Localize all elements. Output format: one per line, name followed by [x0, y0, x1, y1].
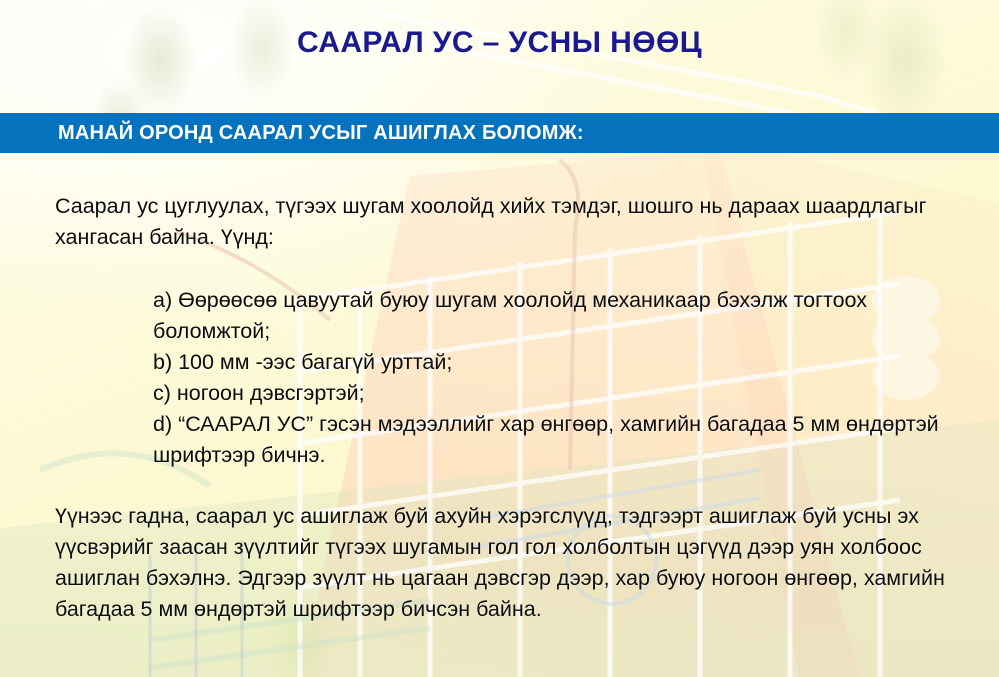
page-title: СААРАЛ УС – УСНЫ НӨӨЦ [0, 26, 999, 60]
section-banner-label: МАНАЙ ОРОНД СААРАЛ УСЫГ АШИГЛАХ БОЛОМЖ: [58, 122, 584, 145]
spacer-above-list [0, 253, 999, 285]
list-item: a) Өөрөөсөө цавуутай буюу шугам хоолойд … [153, 285, 959, 347]
intro-paragraph: Саарал ус цуглуулах, түгээх шугам хоолой… [0, 191, 999, 253]
slide-body: Саарал ус цуглуулах, түгээх шугам хоолой… [0, 191, 999, 625]
closing-paragraph: Үүнээс гадна, саарал ус ашиглаж буй ахуй… [0, 501, 997, 625]
spacer-below-list [0, 471, 999, 501]
requirements-list: a) Өөрөөсөө цавуутай буюу шугам хоолойд … [0, 285, 999, 471]
list-item: d) “СААРАЛ УС” гэсэн мэдээллийг хар өнгө… [153, 409, 959, 471]
list-item: b) 100 мм -ээс багагүй урттай; [153, 347, 959, 378]
presentation-slide: СААРАЛ УС – УСНЫ НӨӨЦ МАНАЙ ОРОНД СААРАЛ… [0, 0, 999, 677]
section-banner: МАНАЙ ОРОНД СААРАЛ УСЫГ АШИГЛАХ БОЛОМЖ: [0, 113, 999, 153]
list-item: c) ногоон дэвсгэртэй; [153, 378, 959, 409]
